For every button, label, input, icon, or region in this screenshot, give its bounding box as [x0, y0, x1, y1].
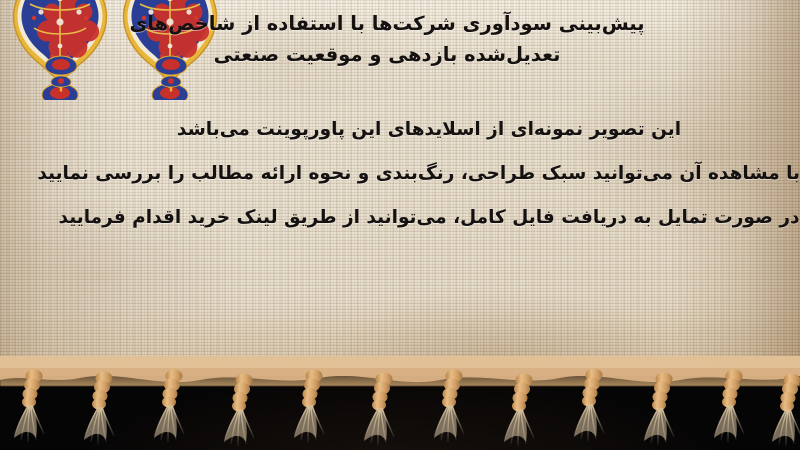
- slide-body-line-1: این تصویر نمونه‌ای از اسلایدهای این پاور…: [58, 108, 800, 152]
- carpet-fringe: [0, 356, 800, 450]
- slide-title: پیش‌بینی سودآوری شرکت‌ها با استفاده از ش…: [0, 8, 800, 70]
- slide-title-line-1: پیش‌بینی سودآوری شرکت‌ها با استفاده از ش…: [0, 8, 774, 39]
- slide-title-line-2: تعدیل‌شده بازدهی و موقعیت صنعتی: [0, 39, 774, 70]
- slide-body-line-2: با مشاهده آن می‌توانید سبک طراحی، رنگ‌بن…: [58, 152, 800, 196]
- slide-body: این تصویر نمونه‌ای از اسلایدهای این پاور…: [0, 108, 800, 240]
- presentation-slide: پیش‌بینی سودآوری شرکت‌ها با استفاده از ش…: [0, 0, 800, 450]
- slide-body-line-3: در صورت تمایل به دریافت فایل کامل، می‌تو…: [58, 196, 800, 240]
